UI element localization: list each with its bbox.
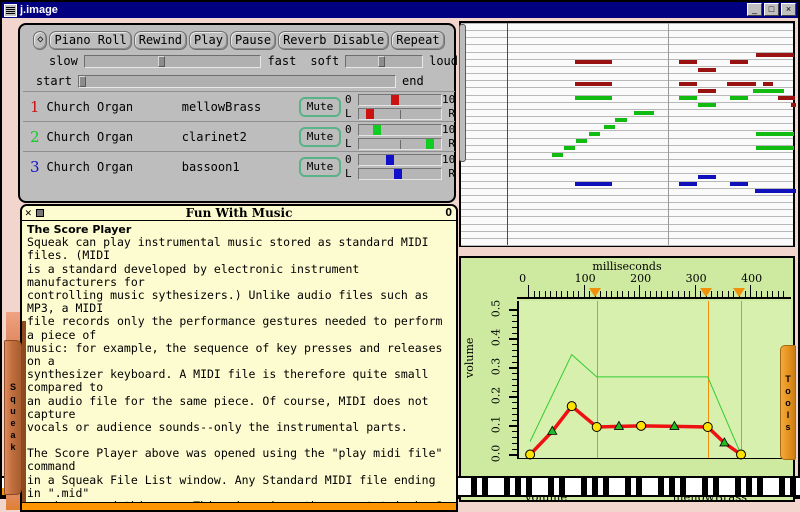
piano-roll-measure-line	[668, 23, 669, 245]
tools-flap[interactable]: T o o l s	[780, 345, 796, 460]
envelope-plot-area[interactable]	[517, 301, 791, 458]
chart-x-tick	[578, 291, 579, 297]
position-end-label: end	[402, 74, 424, 88]
pan-left-label: L	[345, 168, 358, 180]
chart-xtick-label: 0	[519, 272, 526, 285]
pan-left-label: L	[345, 138, 358, 150]
track-row: 1Church OrganmellowBrassMute010LR	[23, 91, 455, 121]
chart-x-tick	[778, 291, 779, 297]
text-line: vocals or audience sounds--only the inst…	[27, 421, 453, 434]
piano-roll-note[interactable]	[730, 182, 748, 186]
chart-x-tick	[750, 285, 751, 297]
piano-roll-note[interactable]	[753, 89, 784, 93]
chart-x-tick	[728, 291, 729, 297]
piano-black-key[interactable]	[735, 478, 741, 497]
piano-roll-note[interactable]	[698, 175, 716, 179]
track-timbre[interactable]: bassoon1	[182, 160, 299, 174]
track-meters: 010LR	[345, 123, 455, 151]
pan-meter-line: LR	[345, 137, 455, 151]
piano-black-key[interactable]	[790, 478, 796, 497]
chart-x-tick	[645, 291, 646, 297]
piano-roll-note[interactable]	[730, 60, 748, 64]
piano-black-key[interactable]	[680, 478, 686, 497]
track-timbre[interactable]: clarinet2	[182, 130, 299, 144]
piano-roll-panel[interactable]	[459, 21, 795, 247]
track-volume-knob[interactable]	[386, 155, 394, 165]
document-icon	[4, 4, 17, 17]
chart-x-ruler[interactable]	[517, 287, 791, 299]
track-row: 3Church Organbassoon1Mute010LR	[23, 151, 455, 181]
chart-x-tick	[628, 291, 629, 297]
text-line: is a standard developed by electronic in…	[27, 263, 453, 289]
piano-roll-gridline	[461, 145, 793, 146]
chart-x-tick	[561, 291, 562, 297]
piano-roll-gridline	[461, 195, 793, 196]
scrollbar[interactable]	[22, 321, 26, 511]
piano-roll-note[interactable]	[730, 96, 748, 100]
squeak-flap-letter: k	[10, 442, 15, 453]
pan-center-mark	[400, 140, 401, 149]
menu-button[interactable]: ◇	[33, 31, 47, 50]
reverb-disable-button[interactable]: Reverb Disable	[278, 31, 389, 50]
chart-x-tick	[761, 291, 762, 297]
text-line: Squeak can play instrumental music store…	[27, 236, 453, 262]
piano-roll-gridline	[461, 173, 793, 174]
track-pan-knob[interactable]	[394, 169, 402, 179]
piano-roll-gridline	[461, 109, 793, 110]
flap-top-strip	[6, 312, 20, 342]
tools-flap-letter: l	[787, 409, 790, 421]
chart-xtick-label: 200	[630, 272, 651, 285]
position-start-label: start	[20, 74, 72, 88]
pan-center-mark	[400, 110, 401, 119]
piano-roll-gridline	[461, 80, 793, 81]
volume-min-label: 0	[345, 94, 358, 106]
tempo-slider-knob[interactable]	[158, 56, 165, 67]
piano-roll-gridline	[461, 102, 793, 103]
squeak-flap-letter: a	[10, 430, 15, 441]
piano-roll-note[interactable]	[763, 82, 773, 86]
track-number: 1	[23, 98, 46, 116]
track-instrument[interactable]: Church Organ	[46, 100, 181, 114]
chart-x-tick	[617, 291, 618, 297]
piano-roll-note[interactable]	[727, 82, 757, 86]
track-pan-knob[interactable]	[366, 109, 374, 119]
pan-right-label: R	[442, 108, 455, 120]
pan-right-label: R	[442, 168, 455, 180]
chart-x-tick	[550, 291, 551, 297]
piano-black-key[interactable]	[713, 478, 719, 497]
paragraph-1: Squeak can play instrumental music store…	[27, 236, 453, 434]
chart-x-tick	[545, 291, 546, 297]
chart-x-tick	[661, 291, 662, 297]
text-window-body[interactable]: The Score Player Squeak can play instrum…	[22, 221, 456, 512]
volume-meter-line: 010	[345, 123, 455, 137]
piano-roll-note[interactable]	[576, 139, 587, 143]
chart-x-tick	[528, 285, 529, 297]
chart-x-tick	[756, 291, 757, 297]
piano-black-key[interactable]	[592, 478, 598, 497]
tools-flap-letter: o	[785, 385, 791, 397]
piano-roll-note[interactable]	[756, 53, 794, 57]
piano-roll-gridline	[461, 66, 793, 67]
piano-roll-note[interactable]	[786, 96, 795, 100]
squeak-flap-letter: u	[10, 406, 16, 417]
chart-x-tick	[556, 291, 557, 297]
piano-roll-note[interactable]	[575, 60, 613, 64]
close-button[interactable]: ×	[781, 3, 796, 16]
piano-black-key[interactable]	[625, 478, 631, 497]
chart-x-tick	[678, 291, 679, 297]
envelope-marker-handle[interactable]	[700, 288, 712, 297]
volume-min-label: 0	[345, 154, 358, 166]
chart-xtick-label: 300	[686, 272, 707, 285]
track-meters: 010LR	[345, 153, 455, 181]
piano-roll-note[interactable]	[679, 182, 697, 186]
chart-x-tick	[722, 291, 723, 297]
piano-roll-gridline	[461, 52, 793, 53]
chart-x-tick	[667, 291, 668, 297]
volume-soft-label: soft	[310, 54, 339, 68]
piano-black-key[interactable]	[515, 478, 521, 497]
text-line: music: for example, the sequence of key …	[27, 342, 453, 368]
volume-min-label: 0	[345, 124, 358, 136]
pan-meter-line: LR	[345, 167, 455, 181]
piano-roll-gridline	[461, 159, 793, 160]
chart-x-tick	[650, 291, 651, 297]
text-window-titlebar[interactable]: ✕ Fun With Music O	[22, 206, 456, 221]
piano-black-key[interactable]	[482, 478, 488, 497]
piano-roll-note[interactable]	[755, 189, 797, 193]
piano-roll-gridline	[461, 216, 793, 217]
chart-x-tick	[684, 291, 685, 297]
piano-roll-note[interactable]	[756, 132, 794, 136]
play-button[interactable]: Play	[189, 31, 228, 50]
track-timbre[interactable]: mellowBrass	[182, 100, 299, 114]
piano-roll-playhead[interactable]	[507, 23, 508, 245]
envelope-point-handle[interactable]	[703, 423, 712, 432]
piano-roll-gridline	[461, 245, 793, 246]
track-pan-knob[interactable]	[426, 139, 434, 149]
piano-roll-note[interactable]	[615, 118, 627, 122]
master-volume-slider-knob[interactable]	[378, 56, 385, 67]
rewind-button[interactable]: Rewind	[134, 31, 187, 50]
text-line: in a Squeak File List window. Any Standa…	[27, 474, 453, 500]
chart-x-tick	[672, 291, 673, 297]
piano-black-key[interactable]	[504, 478, 510, 497]
track-instrument[interactable]: Church Organ	[46, 160, 181, 174]
piano-roll-gridline	[461, 231, 793, 232]
score-player-panel: ◇ Piano Roll Rewind Play Pause Reverb Di…	[18, 23, 456, 203]
tools-flap-letter: o	[785, 397, 791, 409]
piano-roll-gridline	[461, 37, 793, 38]
piano-roll-note[interactable]	[552, 153, 563, 157]
track-meters: 010LR	[345, 93, 455, 121]
piano-black-key[interactable]	[757, 478, 763, 497]
tempo-fast-label: fast	[267, 54, 296, 68]
piano-roll-gridline	[461, 209, 793, 210]
piano-roll-note[interactable]	[564, 146, 575, 150]
chart-x-tick	[767, 291, 768, 297]
tempo-slider[interactable]	[84, 55, 262, 68]
chart-xtick-label: 400	[741, 272, 762, 285]
track-number: 3	[23, 158, 46, 176]
position-slider-row: start end	[20, 72, 458, 90]
chart-x-tick	[656, 291, 657, 297]
piano-black-key[interactable]	[636, 478, 642, 497]
envelope-marker-handle[interactable]	[733, 288, 745, 297]
flap-bottom-strip	[6, 494, 20, 510]
chart-x-tick	[534, 291, 535, 297]
track-number: 2	[23, 128, 46, 146]
squeak-desktop: S q u e a k T o o l s ◇ Piano Roll Rewin…	[4, 18, 798, 497]
piano-black-key[interactable]	[702, 478, 708, 497]
piano-roll-gridline	[461, 30, 793, 31]
piano-roll-button[interactable]: Piano Roll	[49, 31, 131, 50]
chart-x-tick	[606, 291, 607, 297]
chart-ytick-label: 0.5	[489, 299, 502, 317]
piano-roll-gridline	[461, 224, 793, 225]
piano-roll-note[interactable]	[698, 103, 716, 107]
piano-roll-gridline	[461, 73, 793, 74]
piano-roll-gridline	[461, 166, 793, 167]
track-volume-slider[interactable]	[358, 94, 442, 106]
pause-button[interactable]: Pause	[230, 31, 276, 50]
tempo-slow-label: slow	[20, 54, 78, 68]
track-volume-slider[interactable]	[358, 124, 442, 136]
piano-roll-gridline	[461, 23, 793, 24]
chart-xtick-label: 100	[575, 272, 596, 285]
chart-x-tick	[772, 291, 773, 297]
envelope-point-handle[interactable]	[592, 423, 601, 432]
piano-black-key[interactable]	[548, 478, 554, 497]
window-controls: _ □ ×	[747, 3, 796, 16]
position-slider-knob[interactable]	[79, 76, 86, 87]
mute-button[interactable]: Mute	[299, 97, 341, 117]
envelope-editor-panel[interactable]: milliseconds 0100200300400 volume 0.00.1…	[459, 256, 795, 502]
chart-x-tick	[539, 291, 540, 297]
track-volume-knob[interactable]	[373, 125, 381, 135]
piano-roll-note[interactable]	[679, 96, 697, 100]
piano-roll-gridline	[461, 202, 793, 203]
chart-baseline	[517, 458, 791, 459]
chart-ytick-label: 0.3	[489, 357, 502, 375]
text-line: file records only the performance gestur…	[27, 315, 453, 341]
position-slider[interactable]	[78, 75, 396, 88]
piano-roll-gridline	[461, 130, 793, 131]
tempo-volume-slider-row: slow fast soft loud	[20, 52, 458, 70]
volume-loud-label: loud	[429, 54, 458, 68]
chart-ylabel: volume	[463, 338, 476, 378]
text-line: synthesizer keyboard. A MIDI file is the…	[27, 368, 453, 394]
chart-x-tick	[639, 285, 640, 297]
piano-roll-note[interactable]	[575, 182, 613, 186]
chart-ytick-label: 0.4	[489, 328, 502, 346]
squeak-flap-letter: e	[10, 418, 15, 429]
chart-x-tick	[695, 285, 696, 297]
minimize-button[interactable]: _	[747, 3, 762, 16]
piano-roll-note[interactable]	[679, 82, 697, 86]
track-pan-slider[interactable]	[358, 138, 442, 150]
text-window-title: Fun With Music	[22, 206, 456, 220]
pan-right-label: R	[442, 138, 455, 150]
piano-roll-gridline	[461, 238, 793, 239]
chart-x-tick	[573, 291, 574, 297]
chart-ytick-label: 0.0	[489, 444, 502, 462]
mute-button[interactable]: Mute	[299, 127, 341, 147]
window-title: j.image	[20, 4, 58, 16]
mute-button[interactable]: Mute	[299, 157, 341, 177]
chart-x-tick	[717, 291, 718, 297]
pan-meter-line: LR	[345, 107, 455, 121]
text-line: an audio file for the same piece. Of cou…	[27, 395, 453, 421]
piano-roll-gridline	[461, 116, 793, 117]
squeak-flap-letter: q	[10, 394, 16, 405]
chart-x-tick	[567, 291, 568, 297]
piano-roll-gridline	[461, 87, 793, 88]
pan-left-label: L	[345, 108, 358, 120]
piano-roll-note[interactable]	[575, 96, 613, 100]
score-player-toolbar: ◇ Piano Roll Rewind Play Pause Reverb Di…	[20, 30, 458, 50]
piano-roll-note[interactable]	[634, 111, 654, 115]
track-list: 1Church OrganmellowBrassMute010LR2Church…	[23, 91, 455, 201]
envelope-point-handle[interactable]	[567, 402, 576, 411]
volume-max-label: 10	[442, 154, 455, 166]
track-row: 2Church Organclarinet2Mute010LR	[23, 121, 455, 151]
piano-black-key[interactable]	[526, 478, 532, 497]
chart-x-tick	[689, 291, 690, 297]
chart-ytick-label: 0.1	[489, 415, 502, 433]
track-instrument[interactable]: Church Organ	[46, 130, 181, 144]
piano-black-key[interactable]	[471, 478, 477, 497]
piano-black-key[interactable]	[669, 478, 675, 497]
volume-max-label: 10	[442, 94, 455, 106]
envelope-curves	[519, 301, 791, 458]
piano-roll-gridline	[461, 123, 793, 124]
volume-max-label: 10	[442, 124, 455, 136]
repeat-button[interactable]: Repeat	[391, 31, 444, 50]
chart-x-tick	[611, 291, 612, 297]
piano-black-key[interactable]	[559, 478, 565, 497]
fun-with-music-window: ✕ Fun With Music O The Score Player Sque…	[20, 204, 458, 512]
master-volume-slider[interactable]	[345, 55, 423, 68]
piano-black-key[interactable]	[658, 478, 664, 497]
text-window-bottom-bar	[22, 502, 458, 510]
piano-roll-note[interactable]	[575, 82, 613, 86]
piano-roll-note[interactable]	[791, 103, 796, 107]
piano-roll-note[interactable]	[589, 132, 600, 136]
text-line: The Score Player above was opened using …	[27, 447, 453, 473]
tools-flap-letter: s	[785, 421, 790, 433]
chart-x-tick	[622, 291, 623, 297]
reference-envelope-line	[530, 355, 741, 455]
track-volume-knob[interactable]	[391, 95, 399, 105]
volume-meter-line: 010	[345, 93, 455, 107]
chart-x-tick	[634, 291, 635, 297]
piano-black-key[interactable]	[603, 478, 609, 497]
chart-ytick-label: 0.2	[489, 386, 502, 404]
chart-x-tick	[783, 291, 784, 297]
squeak-flap[interactable]: S q u e a k	[4, 340, 22, 495]
piano-roll-gridline	[461, 44, 793, 45]
track-volume-slider[interactable]	[358, 154, 442, 166]
volume-meter-line: 010	[345, 153, 455, 167]
piano-black-key[interactable]	[581, 478, 587, 497]
piano-roll-note[interactable]	[604, 125, 615, 129]
envelope-marker-handle[interactable]	[589, 288, 601, 297]
envelope-point-handle[interactable]	[637, 421, 646, 430]
piano-roll-gridline	[461, 152, 793, 153]
text-line: controlling music sythesizers.) Unlike a…	[27, 289, 453, 315]
piano-roll-side-handle[interactable]	[459, 24, 466, 162]
tools-flap-letter: T	[785, 373, 791, 385]
piano-roll-note[interactable]	[698, 89, 716, 93]
collapse-icon[interactable]: O	[445, 207, 452, 219]
piano-roll-note[interactable]	[698, 68, 716, 72]
track-pan-slider[interactable]	[358, 108, 442, 120]
piano-black-key[interactable]	[746, 478, 752, 497]
piano-roll-note[interactable]	[679, 60, 697, 64]
piano-roll-gridline	[461, 188, 793, 189]
piano-black-key[interactable]	[779, 478, 785, 497]
chart-x-tick	[584, 285, 585, 297]
squeak-flap-letter: S	[10, 382, 16, 393]
window-titlebar[interactable]: j.image _ □ ×	[2, 2, 798, 18]
piano-roll-note[interactable]	[756, 146, 794, 150]
track-pan-slider[interactable]	[358, 168, 442, 180]
piano-roll-gridline	[461, 138, 793, 139]
maximize-button[interactable]: □	[764, 3, 779, 16]
os-window: j.image _ □ × S q u e a k T o o l s	[0, 0, 800, 499]
